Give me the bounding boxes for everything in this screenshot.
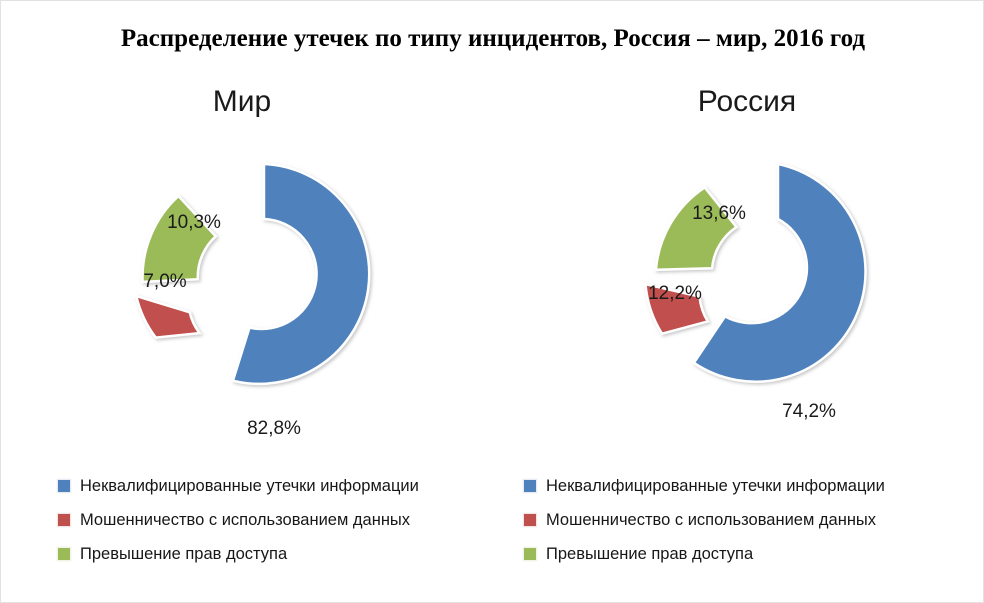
donut-slice-russia-blue[interactable] bbox=[694, 164, 866, 382]
donut-slice-world-red[interactable] bbox=[136, 296, 199, 338]
legend-swatch-blue bbox=[57, 479, 71, 493]
legend-label-world-0: Неквалифицированные утечки информации bbox=[80, 477, 419, 496]
legend-label-russia-2: Превышение прав доступа bbox=[546, 545, 753, 564]
legend-swatch-red bbox=[523, 513, 537, 527]
legend-item-world-2[interactable]: Превышение прав доступа bbox=[57, 537, 549, 571]
legend-swatch-green bbox=[523, 547, 537, 561]
legend-world: Неквалифицированные утечки информации Мо… bbox=[1, 469, 549, 571]
chart-title-russia: Россия bbox=[493, 85, 984, 119]
chart-title-world: Мир bbox=[1, 85, 493, 119]
legend-label-russia-1: Мошенничество с использованием данных bbox=[546, 511, 876, 530]
legend-item-russia-0[interactable]: Неквалифицированные утечки информации bbox=[523, 469, 984, 503]
chart-page: Распределение утечек по типу инцидентов,… bbox=[0, 0, 984, 603]
donut-slice-russia-green[interactable] bbox=[656, 187, 737, 269]
legend-label-world-1: Мошенничество с использованием данных bbox=[80, 511, 410, 530]
slice-label-russia-red: 12,2% bbox=[648, 283, 702, 304]
page-title: Распределение утечек по типу инцидентов,… bbox=[1, 25, 984, 53]
legend-russia: Неквалифицированные утечки информации Мо… bbox=[493, 469, 984, 571]
slice-label-world-red: 7,0% bbox=[143, 271, 186, 292]
donut-chart-world: 82,8% 7,0% 10,3% bbox=[1, 127, 493, 467]
legend-item-world-1[interactable]: Мошенничество с использованием данных bbox=[57, 503, 549, 537]
donut-svg-russia: 74,2% 12,2% 13,6% bbox=[631, 127, 911, 437]
slice-label-russia-green: 13,6% bbox=[692, 203, 746, 224]
slice-label-world-green: 10,3% bbox=[167, 212, 221, 233]
legend-item-russia-2[interactable]: Превышение прав доступа bbox=[523, 537, 984, 571]
slice-label-russia-blue: 74,2% bbox=[782, 401, 836, 422]
legend-label-russia-0: Неквалифицированные утечки информации bbox=[546, 477, 885, 496]
donut-slice-world-blue[interactable] bbox=[233, 164, 369, 384]
legend-label-world-2: Превышение прав доступа bbox=[80, 545, 287, 564]
legend-item-russia-1[interactable]: Мошенничество с использованием данных bbox=[523, 503, 984, 537]
chart-panel-russia: Россия 74,2% 12,2% 13,6% bbox=[493, 79, 984, 579]
donut-svg-world: 82,8% 7,0% 10,3% bbox=[117, 127, 397, 437]
chart-panel-world: Мир 82,8% 7,0% 10,3% bbox=[1, 79, 493, 579]
donut-slice-world-green[interactable] bbox=[143, 196, 216, 282]
slice-label-world-blue: 82,8% bbox=[247, 418, 301, 437]
legend-swatch-blue bbox=[523, 479, 537, 493]
legend-item-world-0[interactable]: Неквалифицированные утечки информации bbox=[57, 469, 549, 503]
legend-swatch-green bbox=[57, 547, 71, 561]
legend-swatch-red bbox=[57, 513, 71, 527]
donut-chart-russia: 74,2% 12,2% 13,6% bbox=[493, 127, 984, 467]
